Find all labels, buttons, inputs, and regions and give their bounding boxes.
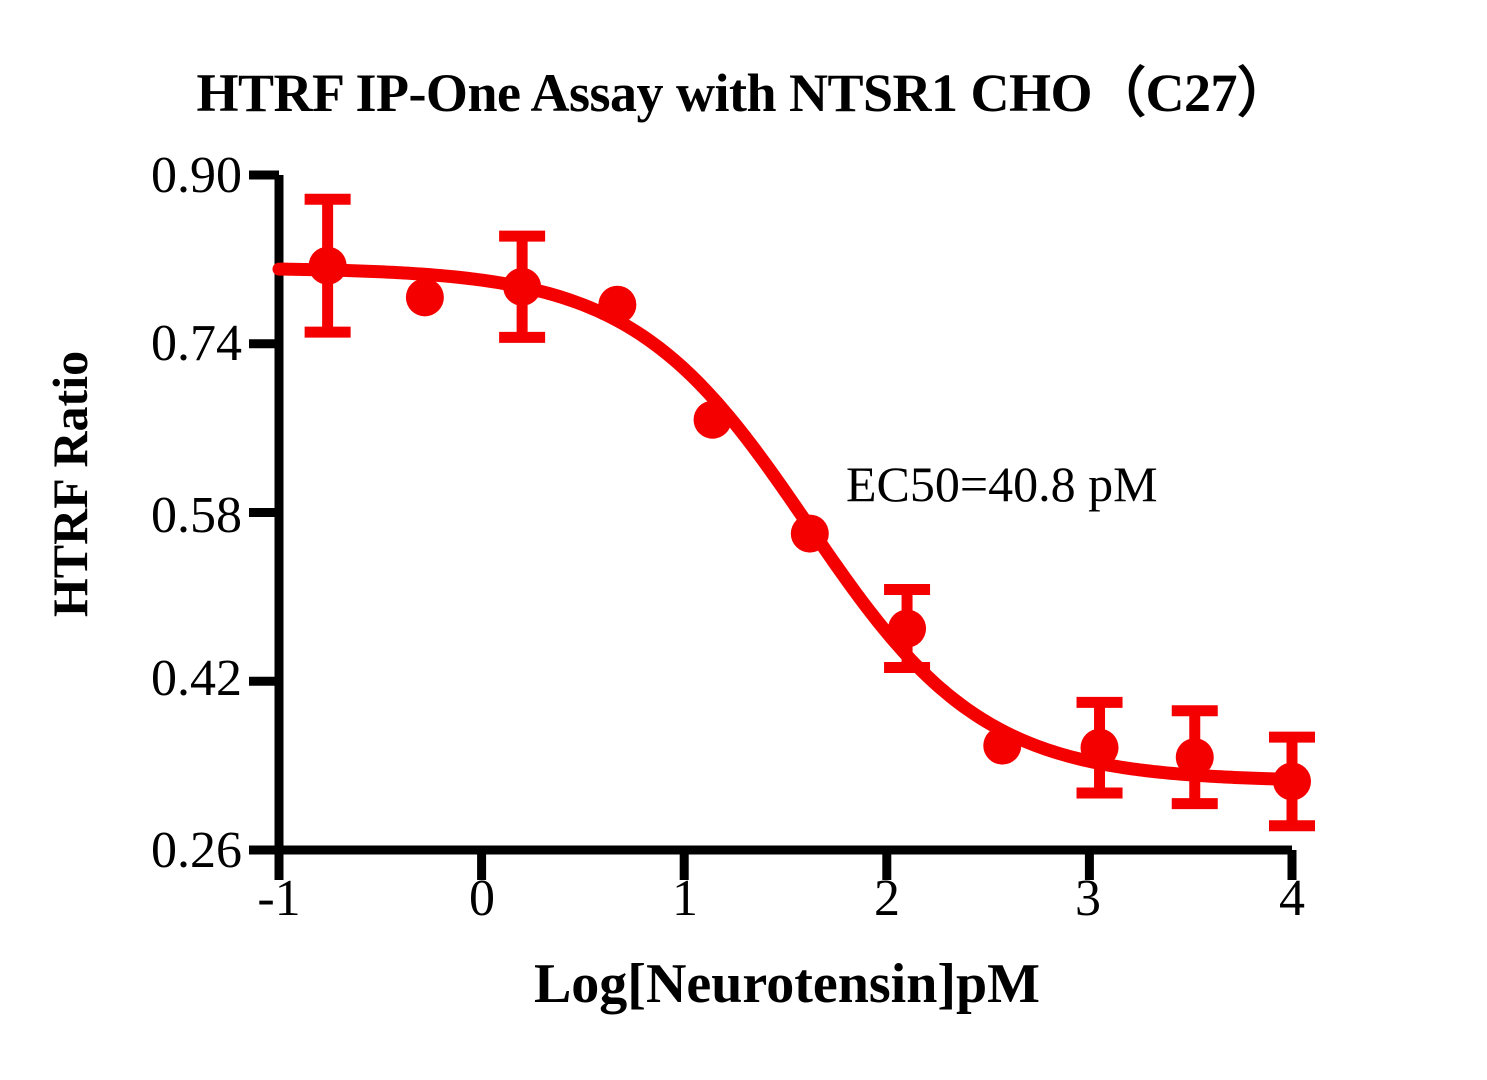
data-point — [1081, 729, 1119, 767]
error-bars-layer — [305, 199, 1315, 825]
data-point — [309, 247, 347, 285]
data-point — [983, 727, 1021, 765]
data-point — [791, 515, 829, 553]
data-point — [503, 268, 541, 306]
data-point — [406, 278, 444, 316]
data-point — [694, 401, 732, 439]
data-points-layer — [309, 247, 1311, 801]
data-point — [888, 610, 926, 648]
data-point — [1273, 762, 1311, 800]
data-point — [1176, 738, 1214, 776]
chart-figure: HTRF IP-One Assay with NTSR1 CHO（C27） HT… — [0, 0, 1487, 1080]
data-point — [598, 286, 636, 324]
fit-curve-layer — [279, 269, 1292, 779]
plot-area — [0, 0, 1487, 1080]
